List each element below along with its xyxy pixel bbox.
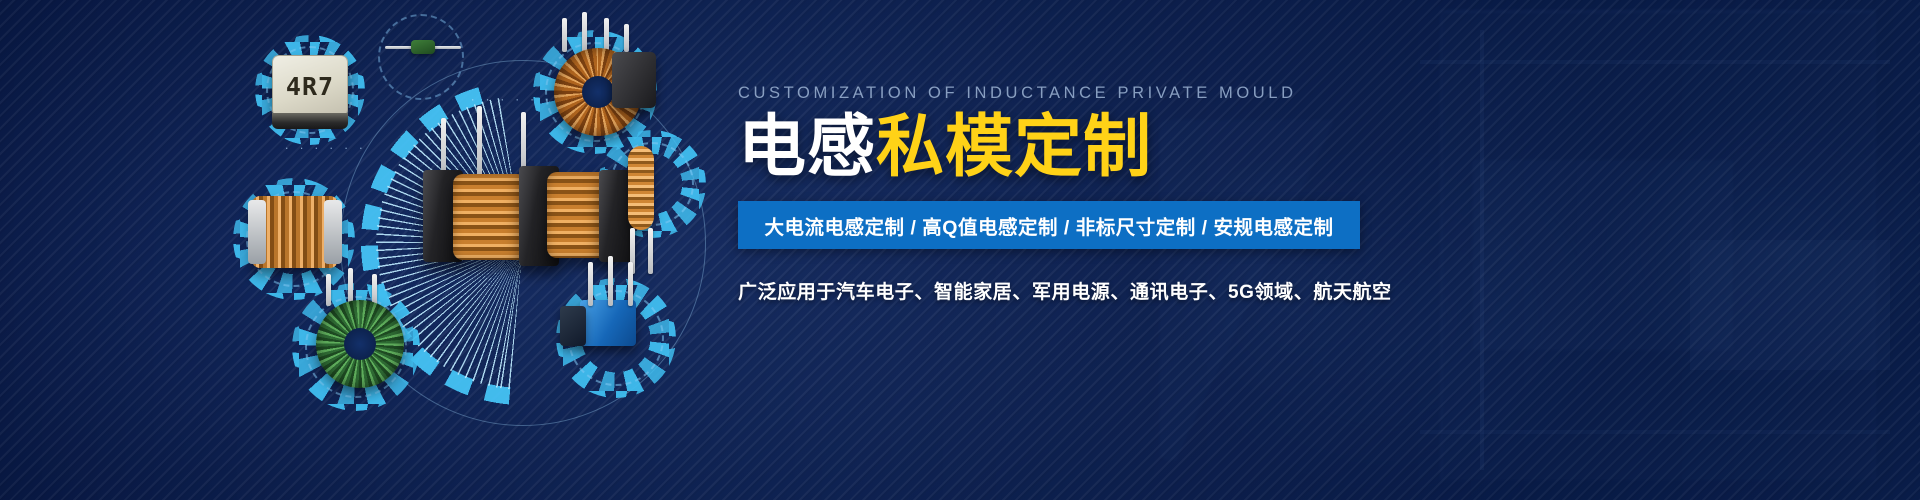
smd-inductor-body: 4R7 [272,55,348,117]
feature-bar: 大电流电感定制 / 高Q值电感定制 / 非标尺寸定制 / 安规电感定制 [738,201,1360,249]
product-smd-power-inductor: 4R7 [272,55,348,129]
ee-core-coil-left [453,174,527,260]
product-blue-radial-choke [580,300,636,346]
banner-copy: CUSTOMIZATION OF INDUCTANCE PRIVATE MOUL… [738,84,1738,304]
product-rod-core-choke [628,146,654,230]
ring-tick-marks: . . . . . . [284,142,366,152]
product-small-dark-cap [560,306,586,346]
product-green-toroid-inductor [316,300,404,388]
tech-ring-dashed-axial [378,14,464,100]
smd-inductor-base [272,113,348,129]
product-bobbin-inductor [252,196,338,268]
hero-banner: . . . . . . · · · · · · · · 4R7 [0,0,1920,500]
product-axial-inductor [385,40,461,54]
page-title: 电感私模定制 [738,111,1738,183]
headline-yellow-part: 私模定制 [876,109,1152,185]
smd-inductor-label: 4R7 [286,72,334,101]
blue-choke-body [580,300,636,346]
headline-white-part: 电感 [738,109,876,185]
product-core-block-small [612,52,656,108]
green-toroid-winding [316,300,404,388]
rod-core-winding [628,146,654,230]
feature-bar-text: 大电流电感定制 / 高Q值电感定制 / 非标尺寸定制 / 安规电感定制 [765,211,1334,240]
application-description: 广泛应用于汽车电子、智能家居、军用电源、通讯电子、5G领域、航天航空 [738,277,1738,304]
eyebrow-text: CUSTOMIZATION OF INDUCTANCE PRIVATE MOUL… [738,84,1738,103]
